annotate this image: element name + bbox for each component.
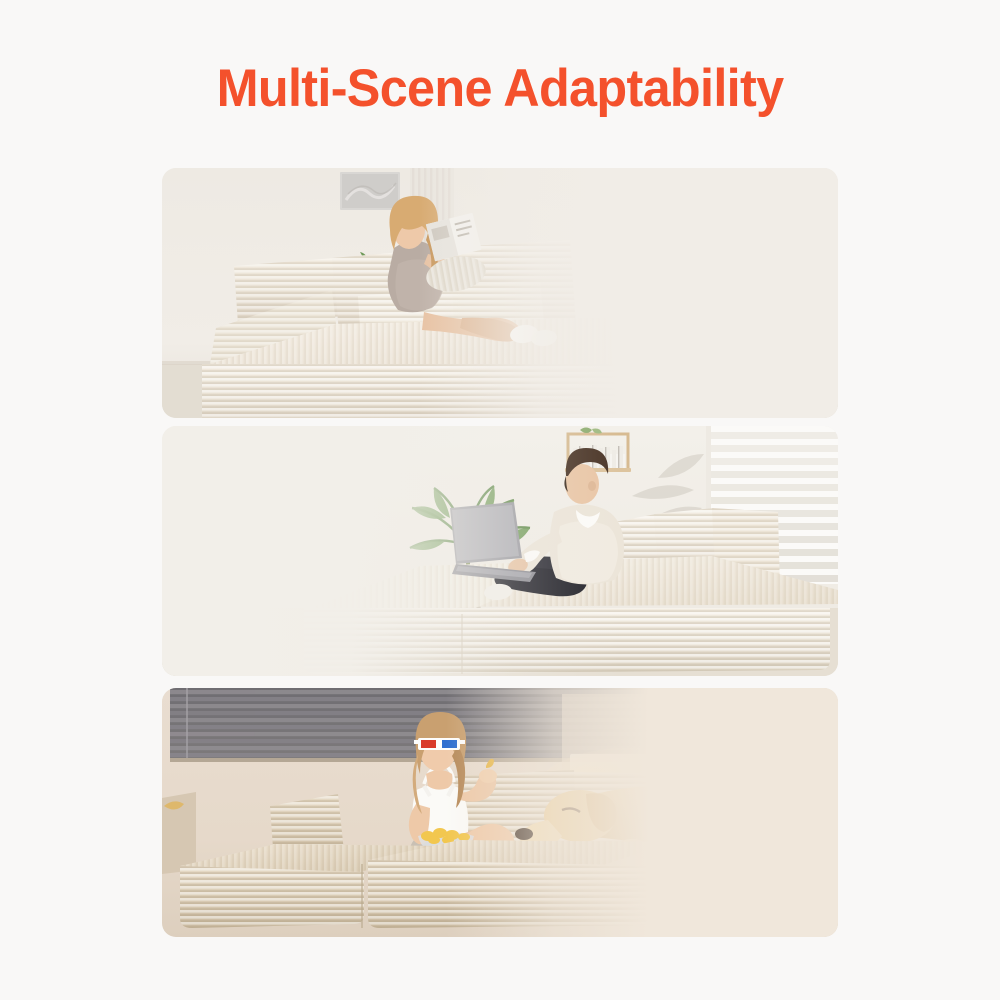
marketing-page: Multi-Scene Adaptability bbox=[0, 0, 1000, 1000]
scene-panel-morning-coffee[interactable]: Morning Coffee & News bbox=[162, 168, 838, 418]
scene-image-morning-coffee bbox=[162, 168, 838, 418]
scene-panel-home-theater[interactable]: Home Theater Seat bbox=[162, 688, 838, 937]
page-title: Multi-Scene Adaptability bbox=[25, 58, 975, 120]
scene-panel-work-in-comfort[interactable]: Work in Comfort bbox=[162, 426, 838, 676]
scene-image-home-theater bbox=[162, 688, 838, 937]
scene-image-work-in-comfort bbox=[162, 426, 838, 676]
